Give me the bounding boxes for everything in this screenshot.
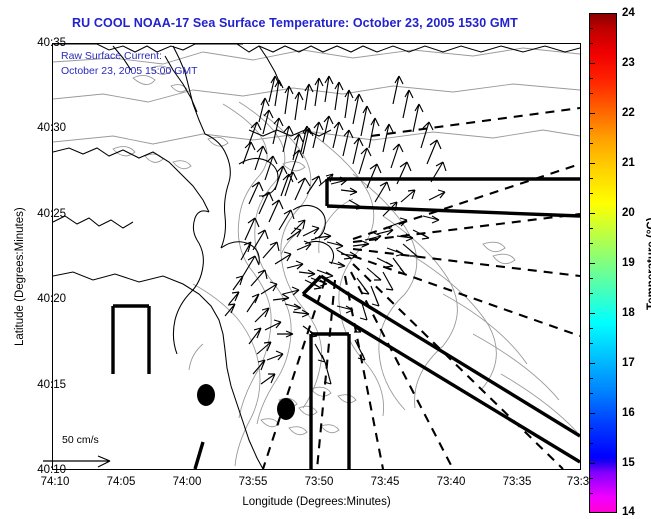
right-arrow-icon [40, 452, 120, 470]
xtick-label: 73:3 [567, 476, 589, 488]
colorbar-tick-label: 20 [622, 207, 635, 219]
xtick-label: 74:10 [41, 476, 70, 488]
figure-canvas: RU COOL NOAA-17 Sea Surface Temperature:… [0, 0, 651, 519]
map-drawing-layer [53, 44, 580, 469]
xtick-label: 74:00 [173, 476, 202, 488]
y-axis-label: Latitude (Degrees:Minutes) [14, 207, 26, 346]
colorbar-tick-label: 15 [622, 457, 635, 469]
colorbar-tick-label: 14 [622, 506, 635, 518]
colorbar-tick-label: 22 [622, 107, 635, 119]
colorbar-tick-label: 16 [622, 407, 635, 419]
colorbar-tick-label: 19 [622, 257, 635, 269]
colorbar-tick-label: 23 [622, 57, 635, 69]
colorbar-tick-label: 21 [622, 157, 635, 169]
vector-scale-label: 50 cm/s [62, 434, 99, 446]
xtick-label: 73:50 [305, 476, 334, 488]
radar-station-markers [197, 384, 295, 420]
colorbar-tick-label: 17 [622, 357, 635, 369]
map-plot-area[interactable]: Raw Surface Current: October 23, 2005 15… [52, 43, 581, 470]
xtick-label: 73:40 [437, 476, 466, 488]
annotation-line-1: Raw Surface Current: [61, 50, 162, 62]
current-vectors [225, 76, 446, 384]
colorbar-tick-label: 24 [622, 7, 635, 19]
radar-rays-solid [113, 179, 580, 469]
ytick-label: 40:30 [37, 122, 66, 134]
ytick-label: 40:25 [37, 208, 66, 220]
xtick-label: 73:55 [239, 476, 268, 488]
coastline [53, 44, 580, 469]
map-svg [53, 44, 580, 469]
x-axis-label: Longitude (Degrees:Minutes) [52, 496, 581, 508]
bathymetry-contours [53, 48, 580, 466]
ytick-label: 40:15 [37, 379, 66, 391]
page-title: RU COOL NOAA-17 Sea Surface Temperature:… [0, 16, 590, 30]
colorbar-title: Temperature (°C) [646, 217, 651, 310]
xtick-label: 74:05 [107, 476, 136, 488]
ytick-label: 40:20 [37, 293, 66, 305]
xtick-label: 73:45 [371, 476, 400, 488]
colorbar-tick-label: 18 [622, 307, 635, 319]
vector-scale-arrow [40, 452, 120, 475]
xtick-label: 73:35 [503, 476, 532, 488]
annotation-line-2: October 23, 2005 15:00 GMT [61, 65, 198, 77]
ytick-label: 40:35 [37, 37, 66, 49]
